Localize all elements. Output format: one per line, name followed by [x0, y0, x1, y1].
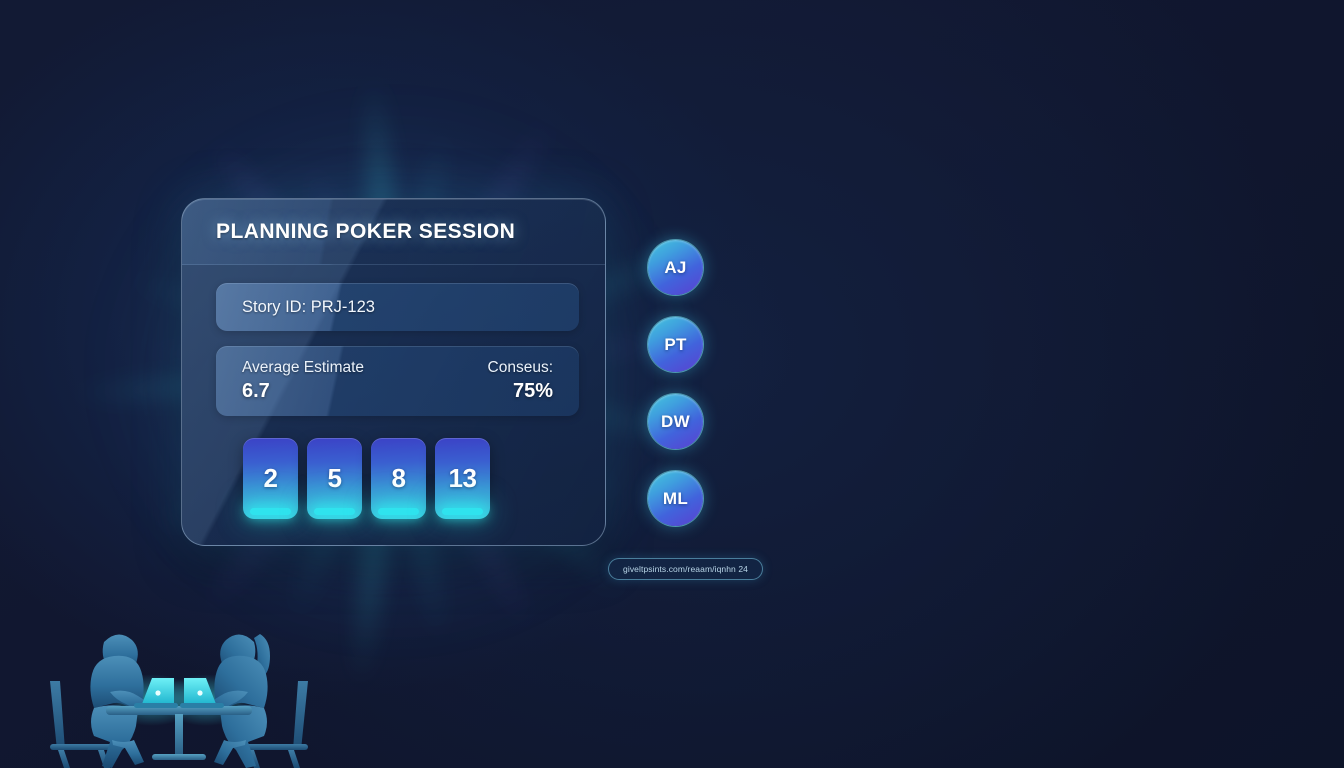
url-text: giveltpsints.com/reaam/iqnhn 24: [623, 564, 748, 574]
avatar-initials: ML: [663, 489, 688, 509]
estimate-card-row: 2 5 8 13: [216, 438, 579, 519]
stats-row: Average Estimate 6.7 Conseus: 75%: [216, 346, 579, 416]
card-glow-bar: [250, 508, 291, 515]
estimate-card[interactable]: 5: [307, 438, 362, 519]
url-pill[interactable]: giveltpsints.com/reaam/iqnhn 24: [608, 558, 763, 580]
planning-poker-panel: PLANNING POKER SESSION Story ID: PRJ-123…: [181, 198, 606, 546]
stat-label: Conseus:: [488, 359, 553, 377]
story-id-row[interactable]: Story ID: PRJ-123: [216, 283, 579, 331]
estimate-card-value: 5: [328, 463, 342, 494]
estimate-card[interactable]: 13: [435, 438, 490, 519]
estimate-card[interactable]: 8: [371, 438, 426, 519]
planning-poker-scene: PLANNING POKER SESSION Story ID: PRJ-123…: [0, 0, 1344, 768]
avatar-initials: AJ: [664, 258, 686, 278]
panel-body: Story ID: PRJ-123 Average Estimate 6.7 C…: [182, 265, 605, 519]
page-title: PLANNING POKER SESSION: [216, 220, 515, 244]
avatar-initials: DW: [661, 412, 690, 432]
estimate-card[interactable]: 2: [243, 438, 298, 519]
story-id-label: Story ID: PRJ-123: [242, 298, 375, 317]
estimate-card-value: 2: [264, 463, 278, 494]
avatar[interactable]: DW: [648, 394, 703, 449]
stat-label: Average Estimate: [242, 359, 364, 377]
two-people-at-table-with-laptops-illustration: [34, 604, 324, 768]
card-glow-bar: [314, 508, 355, 515]
participant-avatar-list: AJ PT DW ML: [648, 240, 703, 526]
avatar[interactable]: AJ: [648, 240, 703, 295]
estimate-card-value: 8: [392, 463, 406, 494]
stat-value: 75%: [513, 379, 553, 403]
stat-average-estimate: Average Estimate 6.7: [242, 359, 364, 403]
card-glow-bar: [378, 508, 419, 515]
stat-value: 6.7: [242, 379, 364, 403]
avatar-initials: PT: [664, 335, 686, 355]
stat-consensus: Conseus: 75%: [488, 359, 553, 403]
avatar[interactable]: ML: [648, 471, 703, 526]
card-glow-bar: [442, 508, 483, 515]
panel-header: PLANNING POKER SESSION: [182, 199, 605, 265]
estimate-card-value: 13: [449, 463, 477, 494]
avatar[interactable]: PT: [648, 317, 703, 372]
